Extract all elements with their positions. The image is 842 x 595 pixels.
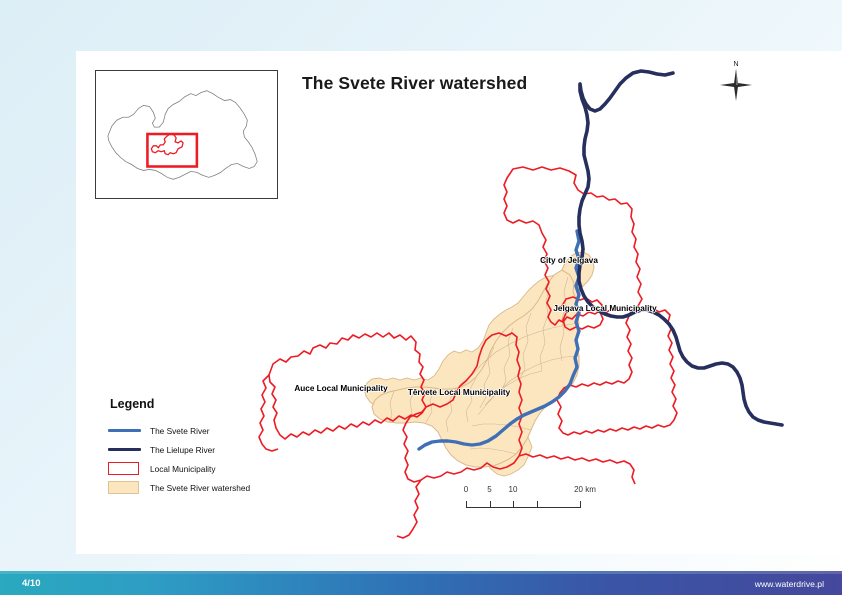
legend-label-watershed: The Svete River watershed bbox=[150, 483, 250, 493]
scale-tick-label-10: 10 bbox=[509, 485, 518, 494]
footer-website-url[interactable]: www.waterdrive.pl bbox=[755, 579, 824, 589]
scale-bar-axis bbox=[466, 507, 581, 508]
svete-river-line-swatch bbox=[108, 424, 141, 437]
scale-tick-2 bbox=[513, 501, 514, 508]
label-city-of-jelgava: City of Jelgava bbox=[540, 256, 598, 265]
lielupe-river-line-swatch bbox=[108, 443, 141, 456]
legend-item-lielupe-river: The Lielupe River bbox=[108, 441, 308, 458]
scale-tick-label-5: 5 bbox=[487, 485, 491, 494]
legend: Legend The Svete River The Lielupe River… bbox=[108, 397, 308, 498]
scale-bar-ticks bbox=[466, 499, 606, 508]
legend-item-watershed: The Svete River watershed bbox=[108, 479, 308, 496]
scale-tick-label-20: 20 km bbox=[574, 485, 596, 494]
scale-tick-4 bbox=[580, 501, 581, 508]
slide-canvas: The Svete River watershed N bbox=[0, 0, 842, 595]
legend-item-svete-river: The Svete River bbox=[108, 422, 308, 439]
map-content-card: The Svete River watershed N bbox=[76, 51, 842, 554]
label-auce-local-municipality: Auce Local Municipality bbox=[294, 384, 388, 393]
scale-tick-label-0: 0 bbox=[464, 485, 468, 494]
scale-bar: 0 5 10 20 km bbox=[466, 485, 606, 508]
label-jelgava-local-municipality: Jelgava Local Municipality bbox=[553, 304, 657, 313]
scale-bar-labels: 0 5 10 20 km bbox=[466, 485, 606, 497]
page-number: 4/10 bbox=[22, 578, 41, 589]
municipality-box-swatch bbox=[108, 462, 141, 475]
south-central-municipality-boundary bbox=[519, 454, 635, 484]
legend-heading: Legend bbox=[110, 397, 308, 411]
scale-tick-0 bbox=[466, 501, 467, 508]
southern-municipality-boundary bbox=[397, 480, 421, 538]
legend-label-svete-river: The Svete River bbox=[150, 426, 209, 436]
lielupe-river-path bbox=[579, 71, 782, 425]
legend-item-local-municipality: Local Municipality bbox=[108, 460, 308, 477]
scale-tick-1 bbox=[490, 501, 491, 508]
label-tervete-local-municipality: Tērvete Local Municipality bbox=[408, 388, 511, 397]
watershed-fill-swatch bbox=[108, 481, 141, 494]
legend-label-lielupe-river: The Lielupe River bbox=[150, 445, 215, 455]
legend-label-local-municipality: Local Municipality bbox=[150, 464, 215, 474]
footer-bar: 4/10 www.waterdrive.pl bbox=[0, 574, 842, 595]
scale-tick-3 bbox=[537, 501, 538, 508]
